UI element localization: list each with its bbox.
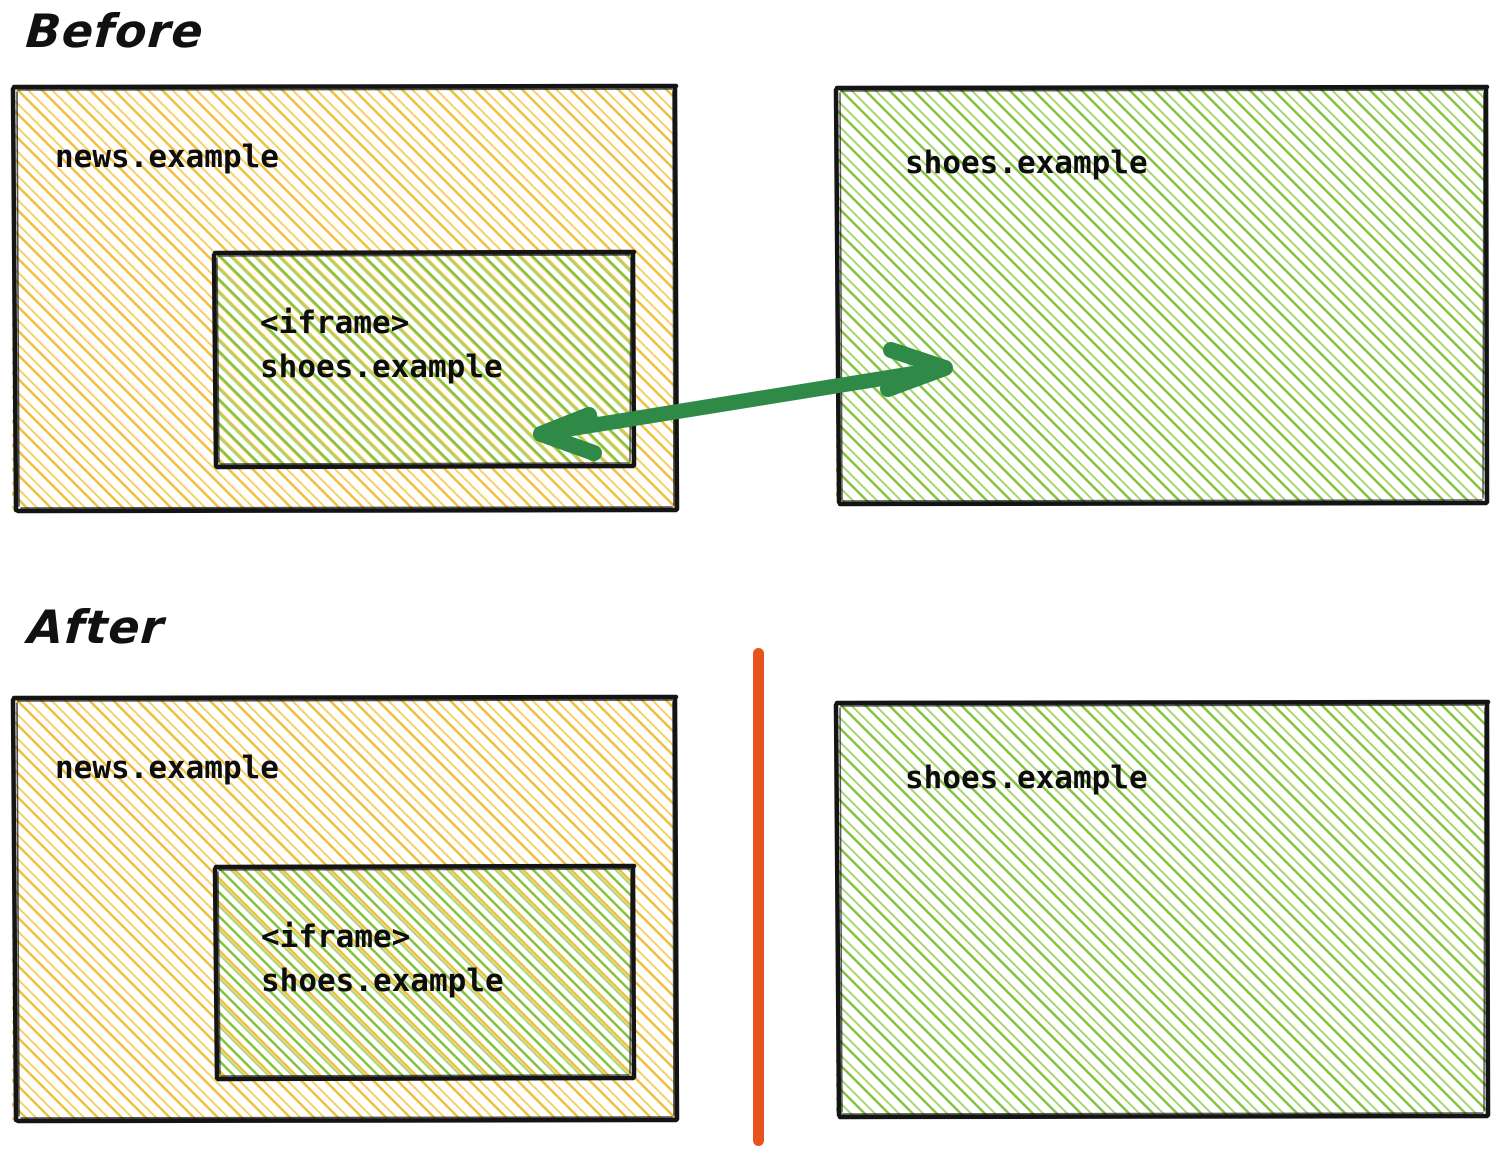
section-title-after: After [26, 600, 166, 654]
after-news-example-label: news.example [55, 748, 279, 789]
section-title-before: Before [24, 4, 206, 58]
before-iframe-label: <iframe> [260, 303, 409, 344]
before-iframe-origin-label: shoes.example [260, 347, 503, 388]
after-iframe-label: <iframe> [261, 917, 410, 958]
after-iframe-origin-label: shoes.example [261, 961, 504, 1002]
before-shoes-example-label: shoes.example [905, 143, 1148, 184]
diagram-canvas: Before news.example [0, 0, 1506, 1154]
before-news-example-label: news.example [55, 137, 279, 178]
after-shoes-example-label: shoes.example [905, 758, 1148, 799]
partition-divider-bar [753, 648, 764, 1146]
